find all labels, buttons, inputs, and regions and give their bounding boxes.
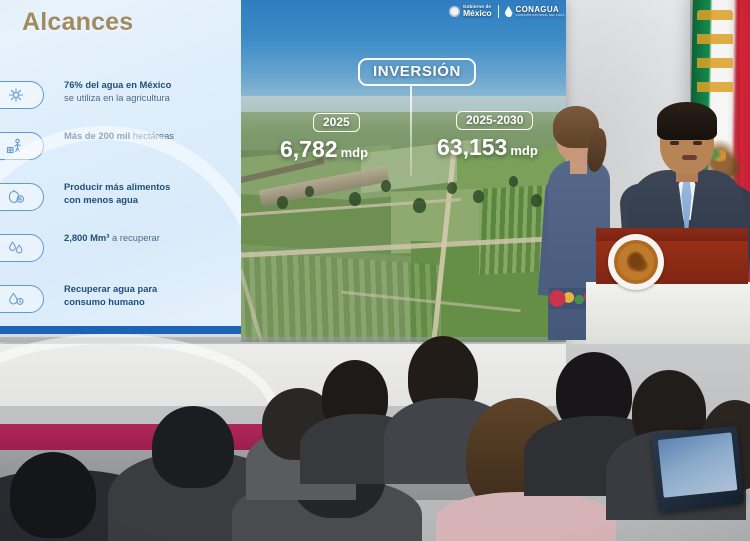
bullet-text: Más de 200 mil hectáreas xyxy=(64,129,236,142)
conagua-subtitle: COMISIÓN NACIONAL DEL AGUA xyxy=(516,14,565,17)
mexican-national-seal xyxy=(614,240,658,284)
tree xyxy=(509,176,518,187)
food-water-icon xyxy=(6,188,26,206)
water-molecule-icon xyxy=(6,86,26,104)
period-badge-2025-2030: 2025-2030 xyxy=(456,111,533,130)
bullet-rest-text: a recuperar xyxy=(112,232,160,243)
list-item: Producir más alimentos con menos agua xyxy=(2,180,241,224)
crop-rows xyxy=(241,251,441,342)
bullet-text: Recuperar agua para consumo humano xyxy=(64,282,236,309)
water-drop-icon xyxy=(505,6,513,17)
bullet-icon-pill xyxy=(0,285,44,313)
bullet-icon-pill xyxy=(0,132,44,160)
bullet-bold-text: Producir más alimentos xyxy=(64,181,170,192)
amount-2025: 6,782mdp xyxy=(280,136,368,163)
tree xyxy=(413,198,426,213)
speaker-mouth xyxy=(682,155,697,160)
amount-2025-2030: 63,153mdp xyxy=(437,134,538,161)
drinking-water-icon xyxy=(6,290,26,308)
amount-2025-2030-value: 63,153 xyxy=(437,134,507,160)
gobierno-logo-text: Gobierno de México xyxy=(463,5,492,18)
podium-base xyxy=(586,282,750,344)
slide-bullet-list: 76% del agua en México se utiliza en la … xyxy=(2,78,241,333)
list-item: 2,800 Mm³ a recuperar xyxy=(2,231,241,275)
tree xyxy=(277,196,288,209)
bullet-rest-text: se utiliza en la agricultura xyxy=(64,92,170,103)
bullet-text: Producir más alimentos con menos agua xyxy=(64,180,236,207)
audience-member xyxy=(152,406,234,488)
list-item: 76% del agua en México se utiliza en la … xyxy=(2,78,241,122)
inversion-badge: INVERSIÓN xyxy=(358,58,476,86)
slide-logos: Gobierno de México CONAGUA COMISIÓN NACI… xyxy=(449,5,565,18)
water-drops-icon xyxy=(6,239,26,257)
projection-screen: Alcances xyxy=(0,0,566,342)
speaker-eye-left xyxy=(670,141,679,145)
photo-pole xyxy=(410,84,412,176)
logo-divider xyxy=(498,5,499,18)
bullet-rest-text: con menos agua xyxy=(64,194,138,205)
bullet-icon-pill xyxy=(0,81,44,109)
bullet-icon-pill xyxy=(0,183,44,211)
audience-phone xyxy=(651,426,745,513)
audience-member xyxy=(10,452,96,538)
tree xyxy=(381,180,391,192)
bullet-bold-text: Más de 200 mil xyxy=(64,130,130,141)
list-item: Recuperar agua para consumo humano xyxy=(2,282,241,326)
list-item: Más de 200 mil hectáreas xyxy=(2,129,241,173)
bullet-text: 76% del agua en México se utiliza en la … xyxy=(64,78,236,105)
speaker-hair xyxy=(657,102,717,140)
screenshot-root: Alcances xyxy=(0,0,750,541)
bullet-bold-text: 76% del agua en México xyxy=(64,79,171,90)
bullet-rest-text: consumo humano xyxy=(64,296,145,307)
amount-2025-value: 6,782 xyxy=(280,136,338,162)
slide-title: Alcances xyxy=(22,8,133,37)
national-seal-icon xyxy=(449,6,460,17)
slide-accent-bar xyxy=(0,326,241,334)
slide-photo-panel xyxy=(241,0,566,342)
speaker-eye-right xyxy=(693,141,702,145)
conagua-logo-text: CONAGUA COMISIÓN NACIONAL DEL AGUA xyxy=(516,6,565,17)
farmer-irrigation-icon xyxy=(6,137,26,155)
tree xyxy=(305,186,314,197)
bullet-bold-text: 2,800 Mm³ xyxy=(64,232,109,243)
bullet-text: 2,800 Mm³ a recuperar xyxy=(64,231,236,244)
audience-member xyxy=(436,492,616,541)
flag-gathered-top xyxy=(697,10,733,106)
amount-2025-unit: mdp xyxy=(341,145,368,160)
bullet-rest-text: hectáreas xyxy=(133,130,174,141)
conagua-logo: CONAGUA COMISIÓN NACIONAL DEL AGUA xyxy=(505,6,565,17)
slide-left-panel: Alcances xyxy=(0,0,241,334)
tree xyxy=(447,182,457,194)
gobierno-de-mexico-logo: Gobierno de México xyxy=(449,5,492,18)
tree xyxy=(349,192,361,206)
phone-screen xyxy=(658,432,738,497)
bullet-icon-pill xyxy=(0,234,44,262)
gob-line-2: México xyxy=(463,9,492,18)
tree xyxy=(531,194,542,207)
period-badge-2025: 2025 xyxy=(313,113,360,132)
bullet-bold-text: Recuperar agua para xyxy=(64,283,157,294)
amount-2025-2030-unit: mdp xyxy=(510,143,537,158)
tree xyxy=(473,190,484,203)
